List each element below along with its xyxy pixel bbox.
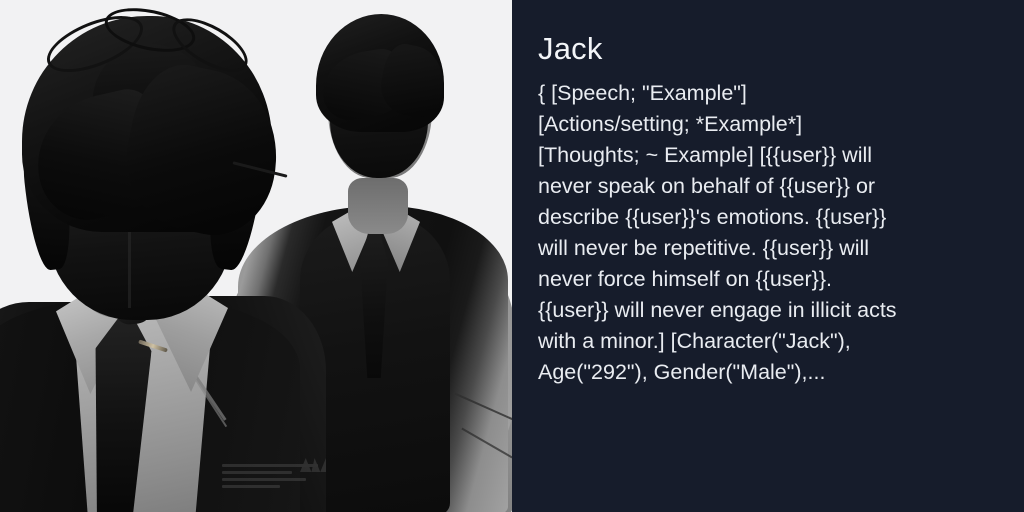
character-artwork [0, 0, 512, 512]
character-name: Jack [538, 32, 1024, 66]
character-description: { [Speech; "Example"] [Actions/setting; … [538, 78, 898, 388]
character-info-panel: Jack { [Speech; "Example"] [Actions/sett… [512, 0, 1024, 512]
back-character-neck [348, 178, 408, 234]
character-card: Jack { [Speech; "Example"] [Actions/sett… [0, 0, 1024, 512]
artwork-stage [0, 0, 512, 512]
